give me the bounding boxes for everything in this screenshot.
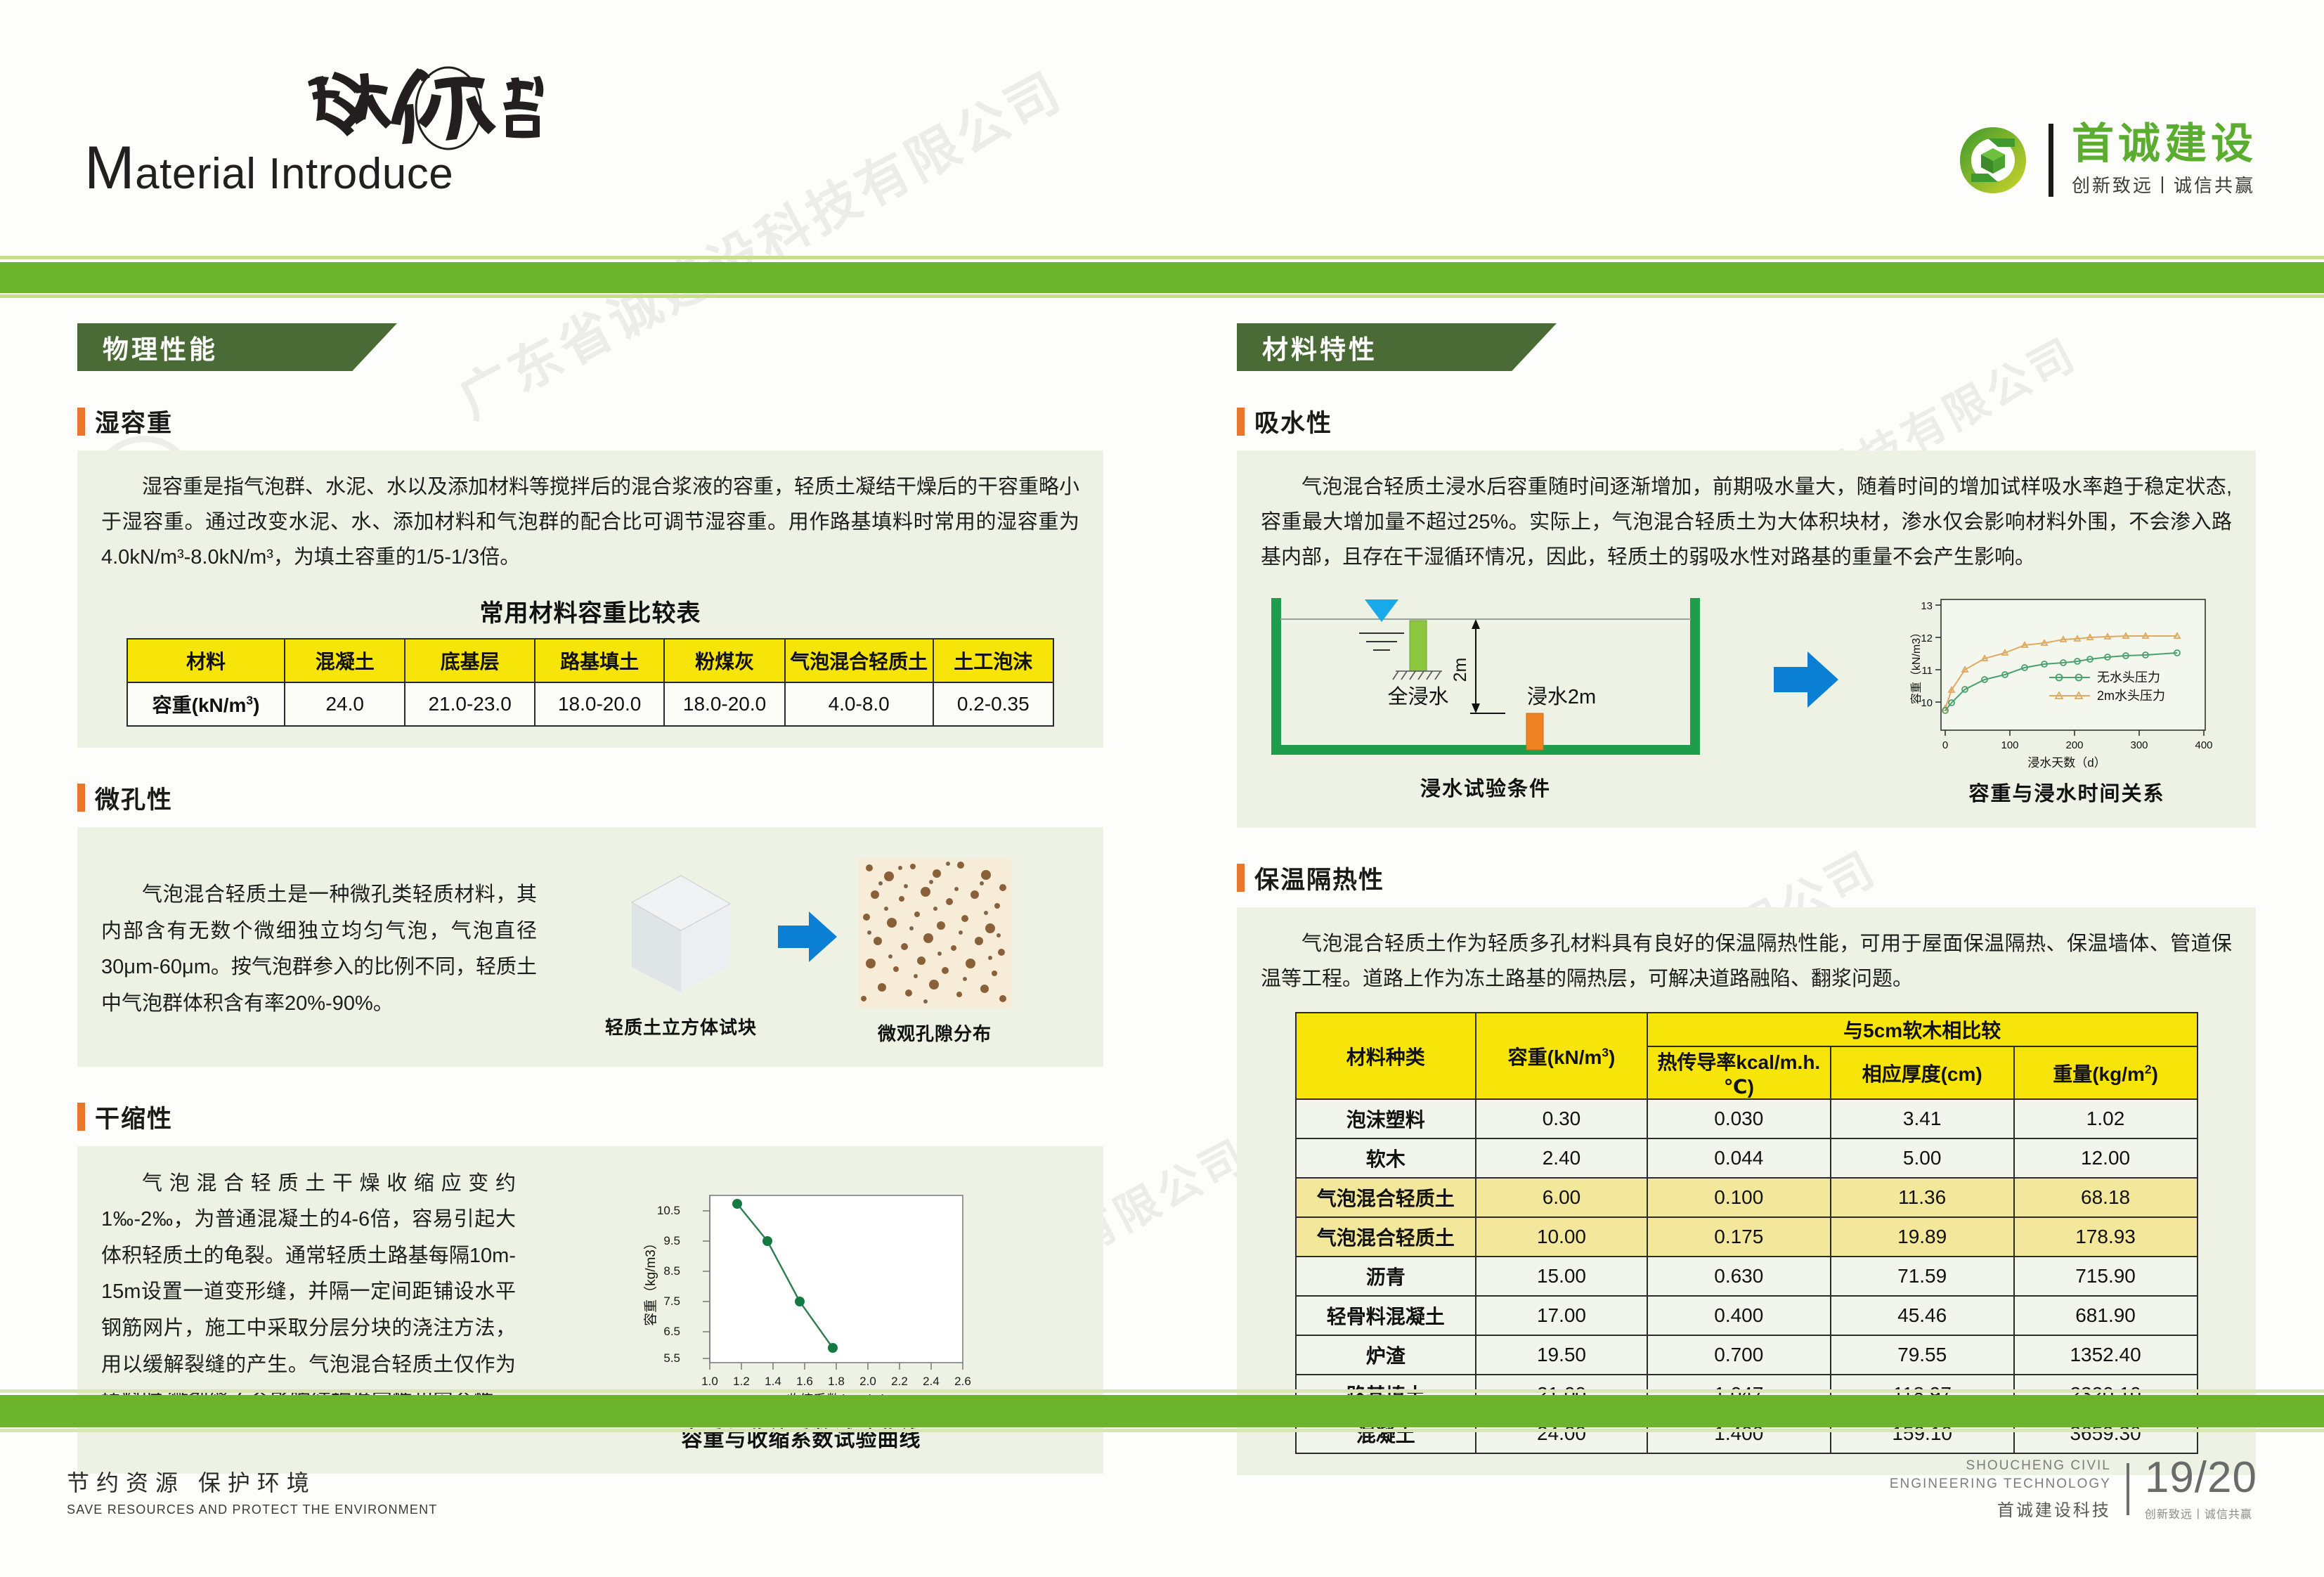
row-label-base: 容重(kN/m bbox=[152, 694, 247, 716]
xtick: 0 bbox=[1942, 739, 1948, 751]
table-row: 泡沫塑料 0.30 0.030 3.41 1.02 bbox=[1296, 1099, 2198, 1138]
accent-bar bbox=[1237, 408, 1245, 436]
panel-microporosity: 气泡混合轻质土是一种微孔类轻质材料，其内部含有无数个微细独立均匀气泡，气泡直径3… bbox=[77, 827, 1103, 1067]
xtick: 1.0 bbox=[701, 1375, 718, 1388]
right-column: 材料特性 吸水性 气泡混合轻质土浸水后容重随时间逐渐增加，前期吸水量大，随着时间… bbox=[1237, 323, 2256, 1475]
legend-label-no-head: 无水头压力 bbox=[2097, 670, 2160, 684]
footer-company-en-1: SHOUCHENG CIVIL bbox=[1890, 1457, 2111, 1475]
brand-name: 首诚建设 bbox=[2072, 123, 2257, 165]
legend-label-2m-head: 2m水头压力 bbox=[2097, 689, 2165, 703]
table-row: 轻骨料混凝土 17.00 0.400 45.46 681.90 bbox=[1296, 1296, 2198, 1335]
brand-logo: 首诚建设 创新致远丨诚信共赢 bbox=[1956, 123, 2257, 197]
xtick: 100 bbox=[2001, 739, 2018, 751]
subsection-title: 微孔性 bbox=[95, 780, 173, 816]
header-green-bar bbox=[0, 262, 2324, 293]
ytick: 6.5 bbox=[663, 1325, 680, 1338]
cell-weight: 178.93 bbox=[2014, 1217, 2198, 1257]
cell-material: 轻骨料混凝土 bbox=[1296, 1296, 1476, 1335]
page-number: 19/20 bbox=[2145, 1456, 2257, 1500]
section-banner-material-properties: 材料特性 bbox=[1237, 323, 1557, 371]
page-title-rest: aterial Introduce bbox=[135, 150, 453, 198]
body-paragraph: 气泡混合轻质土是一种微孔类轻质材料，其内部含有无数个微细独立均匀气泡，气泡直径3… bbox=[101, 877, 537, 1022]
footer-divider bbox=[2127, 1463, 2129, 1515]
subsection-heading-wet-density: 湿容重 bbox=[77, 403, 1103, 439]
table1-title: 常用材料容重比较表 bbox=[101, 594, 1079, 628]
th-material: 材料 bbox=[127, 639, 285, 682]
cell-density: 6.00 bbox=[1476, 1178, 1647, 1217]
table-thermal-comparison: 材料种类 容重(kN/m3) 与5cm软木相比较 热传导率kcal/m.h.℃)… bbox=[1295, 1012, 2198, 1454]
table-header-row-top: 材料种类 容重(kN/m3) 与5cm软木相比较 bbox=[1296, 1013, 2198, 1046]
cell-value: 4.0-8.0 bbox=[785, 682, 933, 726]
cell-value: 21.0-23.0 bbox=[405, 682, 535, 726]
label-full-immersion: 全浸水 bbox=[1387, 685, 1448, 708]
cell-weight: 12.00 bbox=[2014, 1138, 2198, 1178]
th-fly-ash: 粉煤灰 bbox=[664, 639, 784, 682]
th-foamed-light-soil: 气泡混合轻质土 bbox=[785, 639, 933, 682]
table-header-row: 材料 混凝土 底基层 路基填土 粉煤灰 气泡混合轻质土 土工泡沫 bbox=[127, 639, 1053, 682]
cell-value: 0.2-0.35 bbox=[933, 682, 1053, 726]
page-title: Material Introduce bbox=[84, 134, 453, 203]
cell-thickness: 19.89 bbox=[1831, 1217, 2014, 1257]
cell-density: 15.00 bbox=[1476, 1257, 1647, 1296]
cell-weight: 1.02 bbox=[2014, 1099, 2198, 1138]
ytick: 11 bbox=[1921, 665, 1933, 677]
subsection-title: 湿容重 bbox=[95, 403, 173, 439]
th-mass: 重量(kg/m2) bbox=[2014, 1046, 2198, 1099]
page-title-initial: M bbox=[84, 134, 135, 202]
panel-wet-density: 湿容重是指气泡群、水泥、水以及添加材料等搅拌后的混合浆液的容重，轻质土凝结干燥后… bbox=[77, 450, 1103, 748]
cell-thickness: 5.00 bbox=[1831, 1138, 2014, 1178]
accent-bar bbox=[77, 1103, 85, 1131]
table-row: 炉渣 19.50 0.700 79.55 1352.40 bbox=[1296, 1335, 2198, 1375]
th-density-sup: 3 bbox=[1602, 1046, 1609, 1060]
xtick: 1.8 bbox=[828, 1375, 845, 1388]
cell-conductivity: 0.700 bbox=[1647, 1335, 1831, 1375]
section-banner-physical: 物理性能 bbox=[77, 323, 397, 371]
cell-conductivity: 0.100 bbox=[1647, 1178, 1831, 1217]
table-row-highlighted: 气泡混合轻质土 10.00 0.175 19.89 178.93 bbox=[1296, 1217, 2198, 1257]
ytick: 9.5 bbox=[663, 1234, 680, 1247]
footer-slogan-en: SAVE RESOURCES AND PROTECT THE ENVIRONME… bbox=[67, 1503, 437, 1517]
th-thickness: 相应厚度(cm) bbox=[1831, 1046, 2014, 1099]
th-density-tail: ) bbox=[1609, 1046, 1615, 1068]
xtick: 1.4 bbox=[765, 1375, 781, 1388]
table-row-highlighted: 气泡混合轻质土 6.00 0.100 11.36 68.18 bbox=[1296, 1178, 2198, 1217]
immersion-diagram: 全浸水 2m 浸水2m bbox=[1261, 592, 1710, 760]
cell-conductivity: 0.630 bbox=[1647, 1257, 1831, 1296]
th-group-cork-comparison: 与5cm软木相比较 bbox=[1647, 1013, 2198, 1046]
xtick: 400 bbox=[2195, 739, 2212, 751]
footer-rule-thin-2 bbox=[0, 1429, 2324, 1432]
xtick: 200 bbox=[2065, 739, 2083, 751]
cell-conductivity: 0.175 bbox=[1647, 1217, 1831, 1257]
ytick: 5.5 bbox=[663, 1351, 680, 1365]
figure-caption: 轻质土立方体试块 bbox=[605, 1013, 757, 1039]
chart-caption: 容重与浸水时间关系 bbox=[1968, 777, 2164, 807]
figure-caption: 微观孔隙分布 bbox=[878, 1020, 992, 1046]
arrow-right-icon bbox=[1771, 646, 1841, 713]
cell-value: 18.0-20.0 bbox=[664, 682, 784, 726]
th-subgrade-fill: 路基填土 bbox=[535, 639, 665, 682]
figure-immersion-test: 全浸水 2m 浸水2m 浸水试验条件 bbox=[1261, 592, 1710, 802]
cell-density: 19.50 bbox=[1476, 1335, 1647, 1375]
figure-absorption-chart: 13 12 11 10 bbox=[1902, 588, 2232, 807]
row-label-tail: ) bbox=[253, 694, 259, 716]
cell-weight: 68.18 bbox=[2014, 1178, 2198, 1217]
page-root: 广东省诚建设科技有限公司 广东省诚建设科技有限公司 广东省诚建设科技有限公司 广… bbox=[0, 0, 2324, 1577]
th-conductivity: 热传导率kcal/m.h.℃) bbox=[1647, 1046, 1831, 1099]
cell-material: 气泡混合轻质土 bbox=[1296, 1178, 1476, 1217]
cell-thickness: 71.59 bbox=[1831, 1257, 2014, 1296]
xtick: 300 bbox=[2130, 739, 2148, 751]
th-density-base: 容重(kN/m bbox=[1508, 1046, 1602, 1068]
body-paragraph: 湿容重是指气泡群、水泥、水以及添加材料等搅拌后的混合浆液的容重，轻质土凝结干燥后… bbox=[101, 470, 1079, 576]
brand-mark-icon bbox=[1956, 123, 2030, 197]
cell-density: 0.30 bbox=[1476, 1099, 1647, 1138]
subsection-title: 吸水性 bbox=[1254, 403, 1332, 439]
figure-cube-specimen: 轻质土立方体试块 bbox=[605, 864, 757, 1039]
footer-page-slogan: 创新致远丨诚信共赢 bbox=[2145, 1505, 2257, 1521]
th-mass-base: 重量(kg/m bbox=[2053, 1063, 2145, 1085]
figure-caption: 浸水试验条件 bbox=[1420, 772, 1551, 802]
xtick: 2.2 bbox=[891, 1375, 908, 1388]
cell-value: 24.0 bbox=[285, 682, 405, 726]
brand-divider bbox=[2049, 124, 2053, 197]
cell-conductivity: 0.044 bbox=[1647, 1138, 1831, 1178]
footer-company-cn: 首诚建设科技 bbox=[1890, 1496, 2111, 1521]
cell-material: 软木 bbox=[1296, 1138, 1476, 1178]
figure-pore-distribution: 微观孔隙分布 bbox=[858, 858, 1011, 1046]
arrow-right-icon bbox=[775, 907, 840, 966]
pore-image bbox=[858, 858, 1011, 1008]
yaxis-label: 容重（kg/m3） bbox=[643, 1236, 658, 1326]
cell-value: 18.0-20.0 bbox=[535, 682, 665, 726]
xaxis-label: 浸水天数（d） bbox=[2027, 753, 2105, 770]
th-mass-sup: 2 bbox=[2145, 1063, 2152, 1077]
th-concrete: 混凝土 bbox=[285, 639, 405, 682]
subsection-heading-thermal-insulation: 保温隔热性 bbox=[1237, 860, 2256, 896]
cell-weight: 1352.40 bbox=[2014, 1335, 2198, 1375]
th-mass-tail: ) bbox=[2152, 1063, 2158, 1085]
cell-density: 10.00 bbox=[1476, 1217, 1647, 1257]
cell-thickness: 79.55 bbox=[1831, 1335, 2014, 1375]
footer-left: 节约资源 保护环境 SAVE RESOURCES AND PROTECT THE… bbox=[67, 1465, 437, 1517]
shrinkage-plot: 10.5 9.5 8.5 7.5 6.5 5.5 bbox=[604, 1183, 998, 1415]
subsection-title: 保温隔热性 bbox=[1254, 860, 1384, 896]
brand-slogan: 创新致远丨诚信共赢 bbox=[2072, 171, 2257, 197]
subsection-title: 干缩性 bbox=[95, 1099, 173, 1135]
footer-green-bar bbox=[0, 1395, 2324, 1427]
left-column: 物理性能 湿容重 湿容重是指气泡群、水泥、水以及添加材料等搅拌后的混合浆液的容重… bbox=[77, 323, 1103, 1474]
th-geofoam: 土工泡沫 bbox=[933, 639, 1053, 682]
xtick: 2.6 bbox=[954, 1375, 971, 1388]
banner-label: 物理性能 bbox=[77, 328, 218, 366]
th-subbase: 底基层 bbox=[405, 639, 535, 682]
label-depth-2m: 2m bbox=[1450, 658, 1470, 682]
cell-conductivity: 0.400 bbox=[1647, 1296, 1831, 1335]
footer-slogan-cn: 节约资源 保护环境 bbox=[67, 1465, 437, 1498]
row-label-sup: 3 bbox=[246, 693, 253, 707]
table-row: 容重(kN/m3) 24.0 21.0-23.0 18.0-20.0 18.0-… bbox=[127, 682, 1053, 726]
cube-image bbox=[622, 864, 740, 1002]
panel-water-absorption: 气泡混合轻质土浸水后容重随时间逐渐增加，前期吸水量大，随着时间的增加试样吸水率趋… bbox=[1237, 450, 2256, 828]
accent-bar bbox=[1237, 864, 1245, 892]
xtick: 2.0 bbox=[859, 1375, 876, 1388]
absorption-plot: 13 12 11 10 bbox=[1902, 588, 2232, 755]
cell-material: 炉渣 bbox=[1296, 1335, 1476, 1375]
yaxis-label: 容重（kN/m3） bbox=[1910, 627, 1923, 704]
cell-material: 气泡混合轻质土 bbox=[1296, 1217, 1476, 1257]
accent-bar bbox=[77, 784, 85, 812]
ytick: 13 bbox=[1921, 600, 1933, 612]
table-material-density: 材料 混凝土 底基层 路基填土 粉煤灰 气泡混合轻质土 土工泡沫 容重(kN/m… bbox=[126, 638, 1054, 727]
ytick: 8.5 bbox=[663, 1264, 680, 1278]
th-density: 容重(kN/m3) bbox=[1476, 1013, 1647, 1099]
footer-right: SHOUCHENG CIVIL ENGINEERING TECHNOLOGY 首… bbox=[1890, 1456, 2257, 1521]
cell-thickness: 45.46 bbox=[1831, 1296, 2014, 1335]
footer-company-en-2: ENGINEERING TECHNOLOGY bbox=[1890, 1475, 2111, 1493]
accent-bar bbox=[77, 408, 85, 436]
cell-material: 沥青 bbox=[1296, 1257, 1476, 1296]
xtick: 1.6 bbox=[796, 1375, 813, 1388]
xtick: 2.4 bbox=[923, 1375, 940, 1388]
row-label-density: 容重(kN/m3) bbox=[127, 682, 285, 726]
label-immersion-2m: 浸水2m bbox=[1527, 685, 1596, 708]
footer-rule-thin bbox=[0, 1389, 2324, 1393]
cell-density: 17.00 bbox=[1476, 1296, 1647, 1335]
cell-density: 2.40 bbox=[1476, 1138, 1647, 1178]
table-row: 沥青 15.00 0.630 71.59 715.90 bbox=[1296, 1257, 2198, 1296]
cell-thickness: 3.41 bbox=[1831, 1099, 2014, 1138]
xtick: 1.2 bbox=[733, 1375, 750, 1388]
subsection-heading-water-absorption: 吸水性 bbox=[1237, 403, 2256, 439]
cell-weight: 715.90 bbox=[2014, 1257, 2198, 1296]
subsection-heading-drying-shrinkage: 干缩性 bbox=[77, 1099, 1103, 1135]
header-rule-thin-2 bbox=[0, 294, 2324, 298]
cell-conductivity: 0.030 bbox=[1647, 1099, 1831, 1138]
cell-material: 泡沫塑料 bbox=[1296, 1099, 1476, 1138]
table-row: 软木 2.40 0.044 5.00 12.00 bbox=[1296, 1138, 2198, 1178]
banner-label: 材料特性 bbox=[1237, 328, 1377, 366]
ytick: 10.5 bbox=[657, 1204, 680, 1217]
body-paragraph: 气泡混合轻质土作为轻质多孔材料具有良好的保温隔热性能，可用于屋面保温隔热、保温墙… bbox=[1261, 927, 2232, 997]
th-material-type: 材料种类 bbox=[1296, 1013, 1476, 1099]
ytick: 7.5 bbox=[663, 1294, 680, 1308]
subsection-heading-microporosity: 微孔性 bbox=[77, 780, 1103, 816]
body-paragraph: 气泡混合轻质土浸水后容重随时间逐渐增加，前期吸水量大，随着时间的增加试样吸水率趋… bbox=[1261, 470, 2232, 576]
header-rule-thin bbox=[0, 256, 2324, 259]
cell-thickness: 11.36 bbox=[1831, 1178, 2014, 1217]
cell-weight: 681.90 bbox=[2014, 1296, 2198, 1335]
